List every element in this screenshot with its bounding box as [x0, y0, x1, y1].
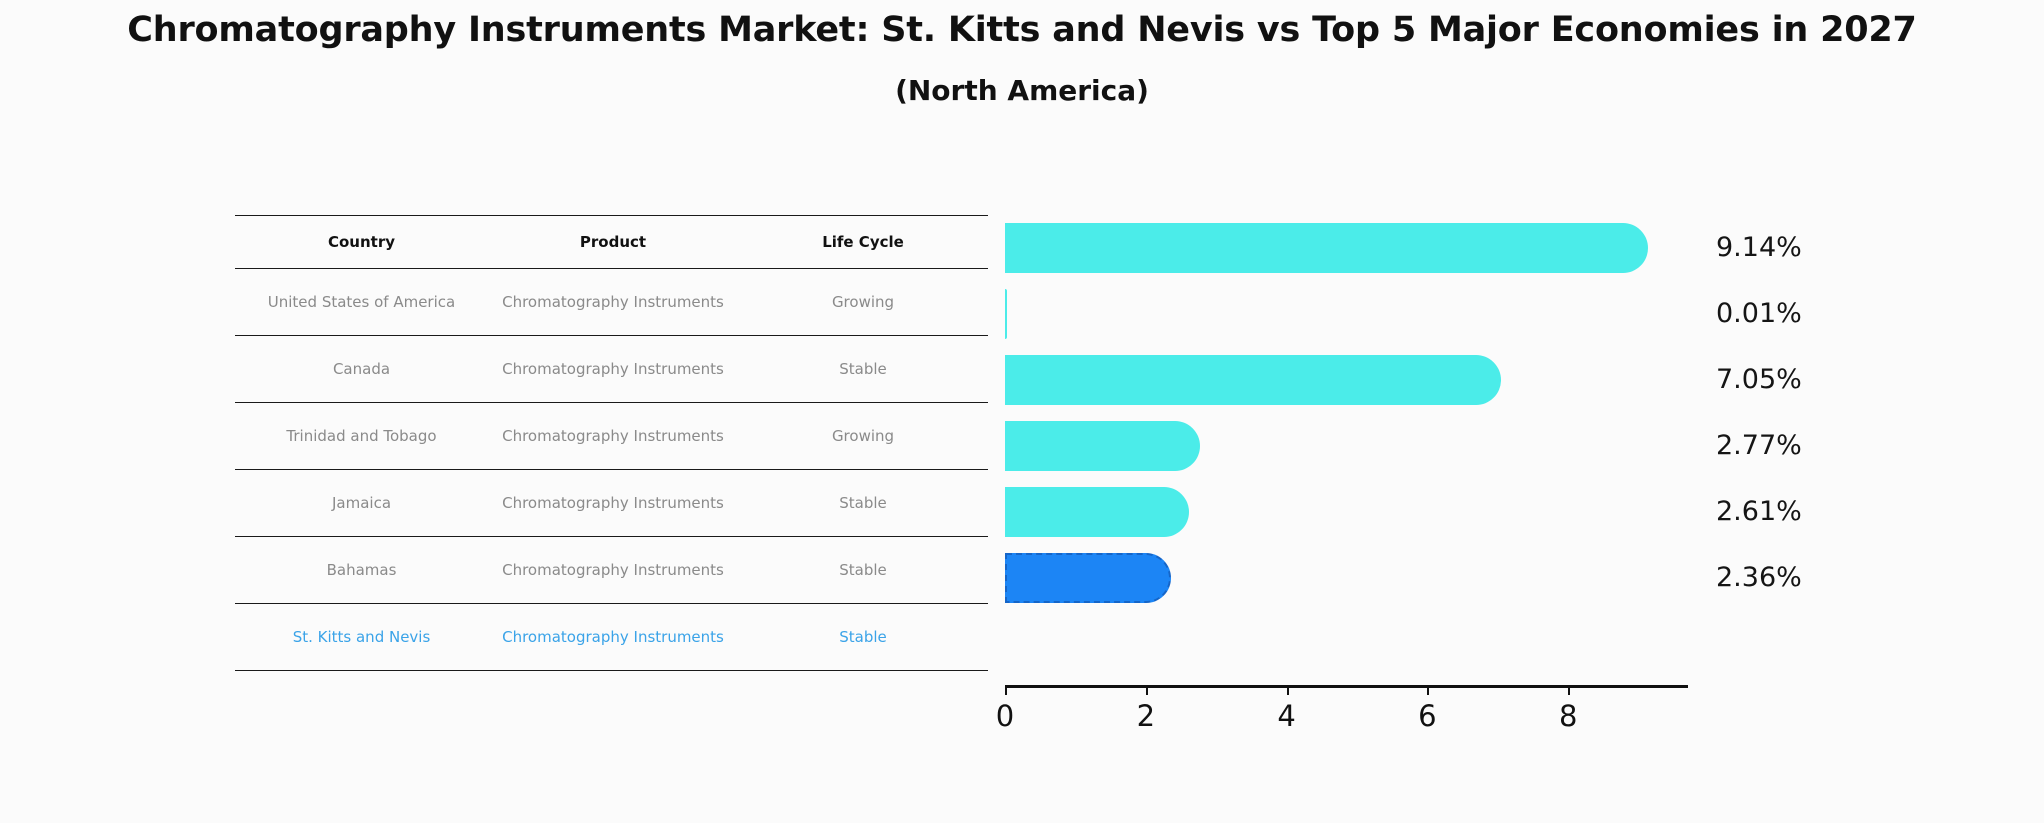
cell-country: United States of America — [235, 269, 488, 336]
bar-value-label: 9.14% — [1716, 223, 1802, 273]
cell-country: Jamaica — [235, 470, 488, 537]
bar-value-label: 2.36% — [1716, 553, 1802, 603]
table-header-row: Country Product Life Cycle — [235, 216, 988, 269]
table-row: United States of AmericaChromatography I… — [235, 269, 988, 336]
chart-title-line-1: Chromatography Instruments Market: St. K… — [0, 8, 2044, 52]
bar-value-label: 2.77% — [1716, 421, 1802, 471]
cell-life-cycle: Stable — [738, 604, 988, 671]
cell-country: Bahamas — [235, 537, 488, 604]
chart-title-line-2: (North America) — [0, 70, 2044, 112]
bar-row: 2.36% — [1005, 545, 2005, 611]
x-axis-tick — [1568, 685, 1570, 695]
bar-highlighted[interactable] — [1005, 553, 1171, 603]
cell-life-cycle: Growing — [738, 403, 988, 470]
bar-row: 9.14% — [1005, 215, 2005, 281]
bar-row: 0.01% — [1005, 281, 2005, 347]
table-header: Country Product Life Cycle — [235, 216, 988, 269]
table-row: Trinidad and TobagoChromatography Instru… — [235, 403, 988, 470]
bar-chart-panel: 9.14%0.01%7.05%2.77%2.61%2.36% 02468 — [1005, 215, 2005, 775]
x-axis-tick-label: 2 — [1137, 699, 1155, 733]
bar[interactable] — [1005, 355, 1501, 405]
bar-row: 7.05% — [1005, 347, 2005, 413]
x-axis-tick — [1005, 685, 1007, 695]
cell-country: Canada — [235, 336, 488, 403]
bar[interactable] — [1005, 487, 1189, 537]
x-axis-line — [1005, 685, 1688, 688]
cell-product: Chromatography Instruments — [488, 470, 738, 537]
x-axis-tick-label: 0 — [996, 699, 1014, 733]
cell-product: Chromatography Instruments — [488, 604, 738, 671]
table-body: United States of AmericaChromatography I… — [235, 269, 988, 671]
x-axis-tick-label: 6 — [1418, 699, 1436, 733]
x-axis-tick-label: 8 — [1559, 699, 1577, 733]
bar-row: 2.77% — [1005, 413, 2005, 479]
plot-area: 9.14%0.01%7.05%2.77%2.61%2.36% — [1005, 215, 2005, 685]
x-axis-tick — [1287, 685, 1289, 695]
x-axis-tick — [1146, 685, 1148, 695]
column-header-product: Product — [488, 216, 738, 269]
cell-product: Chromatography Instruments — [488, 537, 738, 604]
bar[interactable] — [1005, 421, 1200, 471]
column-header-country: Country — [235, 216, 488, 269]
cell-country: St. Kitts and Nevis — [235, 604, 488, 671]
cell-product: Chromatography Instruments — [488, 403, 738, 470]
cell-life-cycle: Stable — [738, 470, 988, 537]
cell-life-cycle: Stable — [738, 537, 988, 604]
page-title: Chromatography Instruments Market: St. K… — [0, 8, 2044, 112]
x-axis-tick-label: 4 — [1277, 699, 1295, 733]
table-row: St. Kitts and NevisChromatography Instru… — [235, 604, 988, 671]
cell-product: Chromatography Instruments — [488, 269, 738, 336]
column-header-life-cycle: Life Cycle — [738, 216, 988, 269]
cell-life-cycle: Stable — [738, 336, 988, 403]
table-row: CanadaChromatography InstrumentsStable — [235, 336, 988, 403]
table-row: JamaicaChromatography InstrumentsStable — [235, 470, 988, 537]
bar-row: 2.61% — [1005, 479, 2005, 545]
bar-value-label: 2.61% — [1716, 487, 1802, 537]
market-table-panel: Country Product Life Cycle United States… — [235, 215, 988, 671]
bar[interactable] — [1005, 223, 1648, 273]
cell-country: Trinidad and Tobago — [235, 403, 488, 470]
bar-value-label: 7.05% — [1716, 355, 1802, 405]
cell-product: Chromatography Instruments — [488, 336, 738, 403]
cell-life-cycle: Growing — [738, 269, 988, 336]
market-table: Country Product Life Cycle United States… — [235, 215, 988, 671]
table-row: BahamasChromatography InstrumentsStable — [235, 537, 988, 604]
bar[interactable] — [1005, 289, 1007, 339]
bar-value-label: 0.01% — [1716, 289, 1802, 339]
x-axis-tick — [1427, 685, 1429, 695]
